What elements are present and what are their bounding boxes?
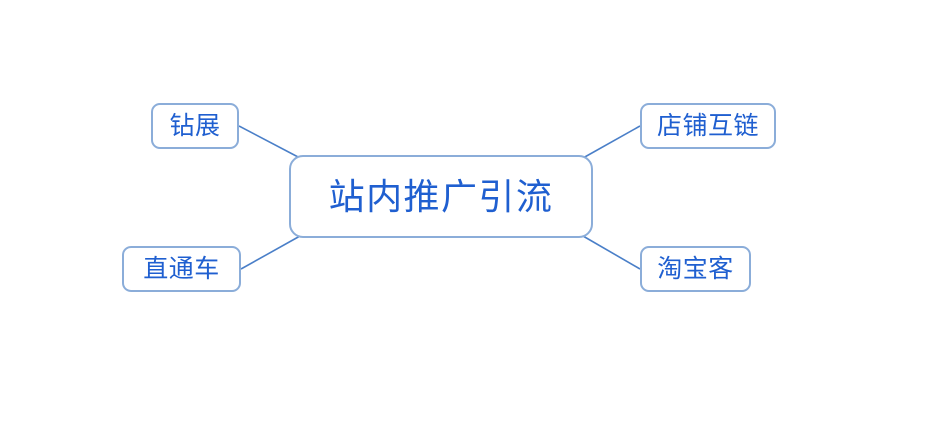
branch-node-label-zhitongche: 直通车 [143,257,220,282]
connector-zuanzhan-to-central [239,126,300,158]
connector-zhitongche-to-central [241,236,300,269]
central-node[interactable]: 站内推广引流 [289,155,593,238]
branch-node-taobaoke[interactable]: 淘宝客 [640,246,751,292]
central-node-label: 站内推广引流 [329,179,554,215]
branch-node-zhitongche[interactable]: 直通车 [122,246,241,292]
branch-node-zuanzhan[interactable]: 钻展 [151,103,239,149]
branch-node-label-taobaoke: 淘宝客 [657,257,734,282]
branch-node-dianpuhulian[interactable]: 店铺互链 [640,103,776,149]
connector-central-to-dianpuhulian [583,126,640,158]
branch-node-label-dianpuhulian: 店铺互链 [657,114,759,139]
connector-central-to-taobaoke [583,236,640,269]
branch-node-label-zuanzhan: 钻展 [169,114,220,139]
diagram-canvas: 站内推广引流 钻展 店铺互链 直通车 淘宝客 [0,0,931,423]
